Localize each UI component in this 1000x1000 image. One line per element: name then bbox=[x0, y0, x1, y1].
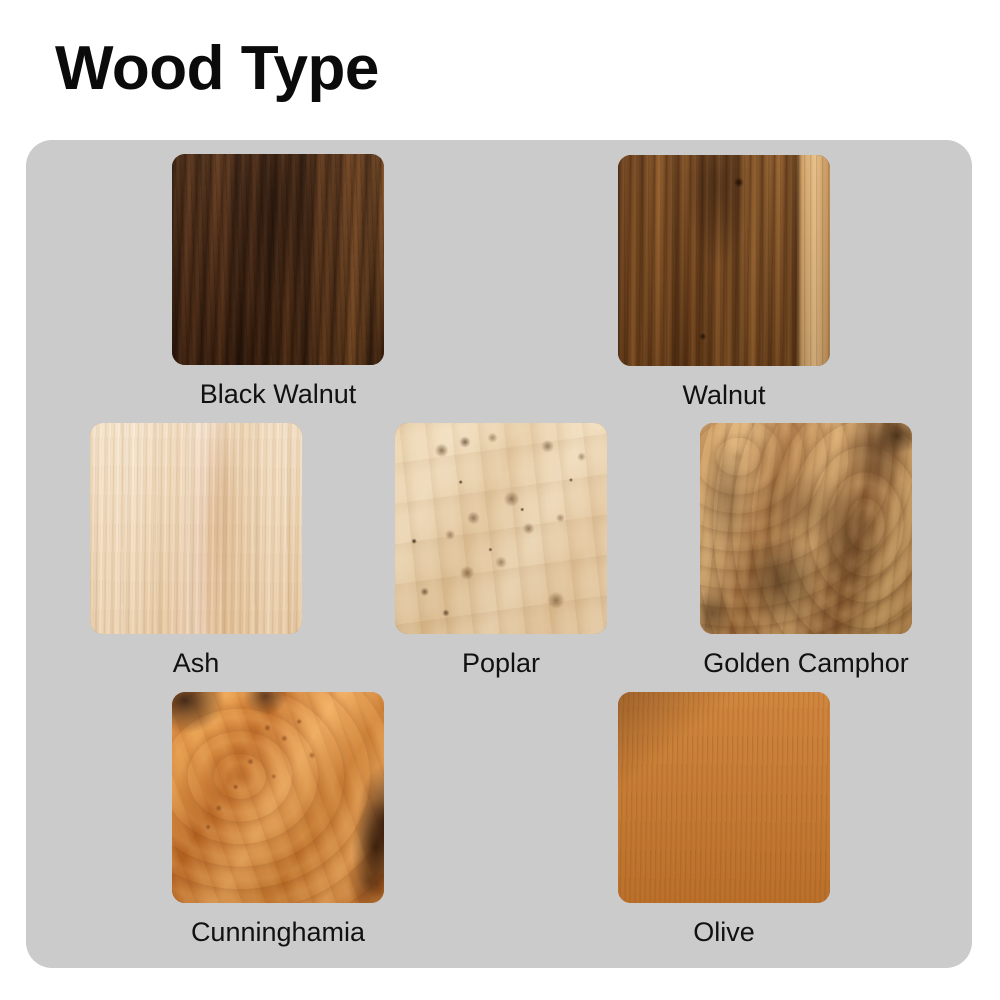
swatch-option-olive[interactable]: Olive bbox=[618, 692, 830, 948]
wood-texture-olive bbox=[618, 692, 830, 903]
swatch-label-olive: Olive bbox=[618, 916, 830, 948]
wood-texture-walnut bbox=[618, 155, 830, 366]
swatch-tile-poplar[interactable] bbox=[395, 423, 607, 634]
swatch-tile-olive[interactable] bbox=[618, 692, 830, 903]
swatch-option-golden-camphor[interactable]: Golden Camphor bbox=[700, 423, 934, 679]
swatch-label-black-walnut: Black Walnut bbox=[172, 378, 384, 410]
swatch-label-cunninghamia: Cunninghamia bbox=[150, 916, 406, 948]
wood-texture-black-walnut bbox=[172, 154, 384, 365]
swatch-panel: Black Walnut Walnut Ash Poplar Golden Ca… bbox=[26, 140, 972, 968]
swatch-label-ash: Ash bbox=[90, 647, 302, 679]
swatch-option-cunninghamia[interactable]: Cunninghamia bbox=[172, 692, 406, 948]
swatch-tile-cunninghamia[interactable] bbox=[172, 692, 384, 903]
swatch-option-black-walnut[interactable]: Black Walnut bbox=[172, 154, 384, 410]
swatch-tile-ash[interactable] bbox=[90, 423, 302, 634]
wood-texture-cunninghamia bbox=[172, 692, 384, 903]
swatch-option-ash[interactable]: Ash bbox=[90, 423, 302, 679]
swatch-tile-walnut[interactable] bbox=[618, 155, 830, 366]
wood-texture-poplar bbox=[395, 423, 607, 634]
swatch-label-golden-camphor: Golden Camphor bbox=[678, 647, 934, 679]
page-title: Wood Type bbox=[55, 36, 379, 101]
swatch-tile-black-walnut[interactable] bbox=[172, 154, 384, 365]
swatch-label-walnut: Walnut bbox=[618, 379, 830, 411]
swatch-option-walnut[interactable]: Walnut bbox=[618, 155, 830, 411]
swatch-label-poplar: Poplar bbox=[395, 647, 607, 679]
swatch-option-poplar[interactable]: Poplar bbox=[395, 423, 607, 679]
wood-texture-golden-camphor bbox=[700, 423, 912, 634]
wood-texture-ash bbox=[90, 423, 302, 634]
swatch-tile-golden-camphor[interactable] bbox=[700, 423, 912, 634]
